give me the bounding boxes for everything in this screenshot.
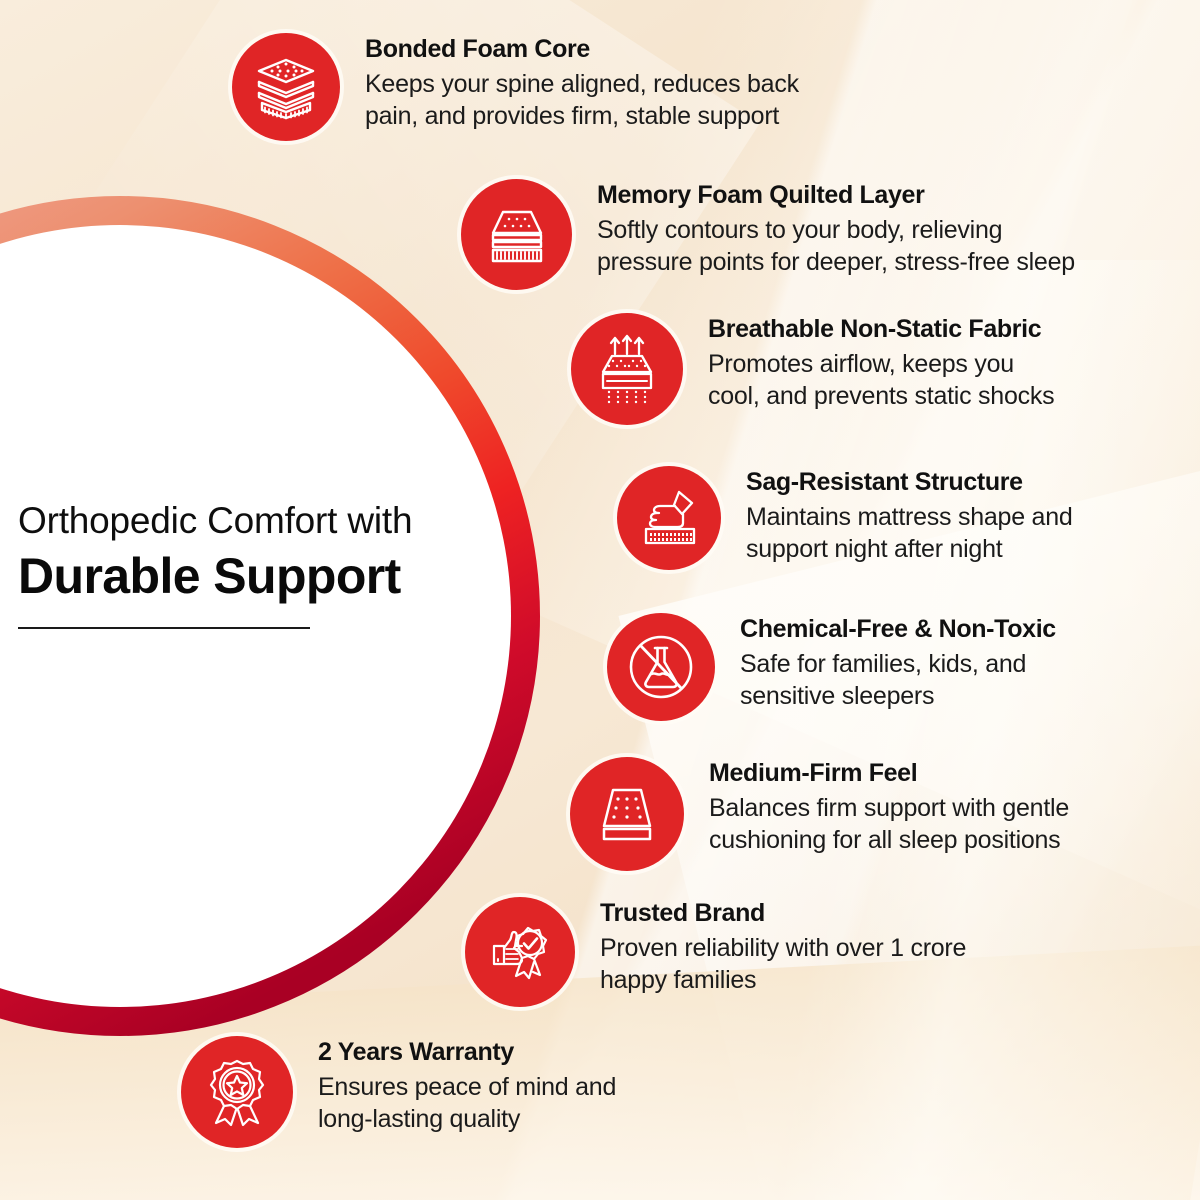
hand-pressing-mattress-icon (617, 466, 721, 570)
feature-description: Safe for families, kids, and sensitive s… (740, 648, 1056, 713)
thumbs-up-badge-icon (465, 897, 575, 1007)
feature-item-chemical-free-non-toxic[interactable]: Chemical-Free & Non-Toxic Safe for famil… (607, 613, 1056, 721)
feature-desc-line: Keeps your spine aligned, reduces back (365, 68, 799, 101)
page-title: Orthopedic Comfort with Durable Support (18, 500, 538, 629)
feature-item-breathable-non-static-fabric[interactable]: Breathable Non-Static Fabric Promotes ai… (571, 313, 1054, 425)
feature-desc-line: Balances firm support with gentle (709, 792, 1069, 825)
feature-desc-line: Proven reliability with over 1 crore (600, 932, 966, 965)
feature-desc-line: support night after night (746, 533, 1073, 566)
firm-mattress-icon (570, 757, 684, 871)
feature-item-sag-resistant-structure[interactable]: Sag-Resistant Structure Maintains mattre… (617, 466, 1073, 570)
bonded-foam-layers-icon (232, 33, 340, 141)
feature-item-medium-firm-feel[interactable]: Medium-Firm Feel Balances firm support w… (570, 757, 1069, 871)
feature-item-trusted-brand[interactable]: Trusted Brand Proven reliability with ov… (465, 897, 966, 1007)
infographic-canvas: Orthopedic Comfort with Durable Support (0, 0, 1200, 1200)
feature-description: Ensures peace of mind and long-lasting q… (318, 1071, 616, 1136)
feature-desc-line: Ensures peace of mind and (318, 1071, 616, 1104)
breathable-airflow-mattress-icon (571, 313, 683, 425)
feature-desc-line: Promotes airflow, keeps you (708, 348, 1054, 381)
feature-description: Balances firm support with gentle cushio… (709, 792, 1069, 857)
feature-title: Breathable Non-Static Fabric (708, 315, 1054, 345)
no-chemicals-flask-icon (607, 613, 715, 721)
feature-desc-line: pressure points for deeper, stress-free … (597, 246, 1075, 279)
feature-title: 2 Years Warranty (318, 1038, 616, 1068)
headline-line-2: Durable Support (18, 547, 538, 606)
feature-description: Softly contours to your body, relieving … (597, 214, 1075, 279)
feature-title: Medium-Firm Feel (709, 759, 1069, 789)
feature-desc-line: cool, and prevents static shocks (708, 380, 1054, 413)
feature-item-memory-foam-quilted-layer[interactable]: Memory Foam Quilted Layer Softly contour… (461, 179, 1075, 290)
headline-line-1: Orthopedic Comfort with (18, 500, 538, 543)
feature-desc-line: Softly contours to your body, relieving (597, 214, 1075, 247)
feature-description: Keeps your spine aligned, reduces back p… (365, 68, 799, 133)
feature-description: Maintains mattress shape and support nig… (746, 501, 1073, 566)
feature-desc-line: Safe for families, kids, and (740, 648, 1056, 681)
feature-description: Promotes airflow, keeps you cool, and pr… (708, 348, 1054, 413)
feature-title: Trusted Brand (600, 899, 966, 929)
feature-title: Chemical-Free & Non-Toxic (740, 615, 1056, 645)
feature-desc-line: sensitive sleepers (740, 680, 1056, 713)
feature-description: Proven reliability with over 1 crore hap… (600, 932, 966, 997)
feature-desc-line: cushioning for all sleep positions (709, 824, 1069, 857)
feature-item-bonded-foam-core[interactable]: Bonded Foam Core Keeps your spine aligne… (232, 33, 799, 141)
warranty-star-rosette-icon (181, 1036, 293, 1148)
quilted-mattress-icon (461, 179, 572, 290)
feature-desc-line: pain, and provides firm, stable support (365, 100, 799, 133)
feature-desc-line: long-lasting quality (318, 1103, 616, 1136)
feature-desc-line: happy families (600, 964, 966, 997)
feature-title: Bonded Foam Core (365, 35, 799, 65)
feature-item-2-years-warranty[interactable]: 2 Years Warranty Ensures peace of mind a… (181, 1036, 616, 1148)
feature-title: Memory Foam Quilted Layer (597, 181, 1075, 211)
headline-underline (18, 627, 310, 629)
feature-title: Sag-Resistant Structure (746, 468, 1073, 498)
feature-desc-line: Maintains mattress shape and (746, 501, 1073, 534)
